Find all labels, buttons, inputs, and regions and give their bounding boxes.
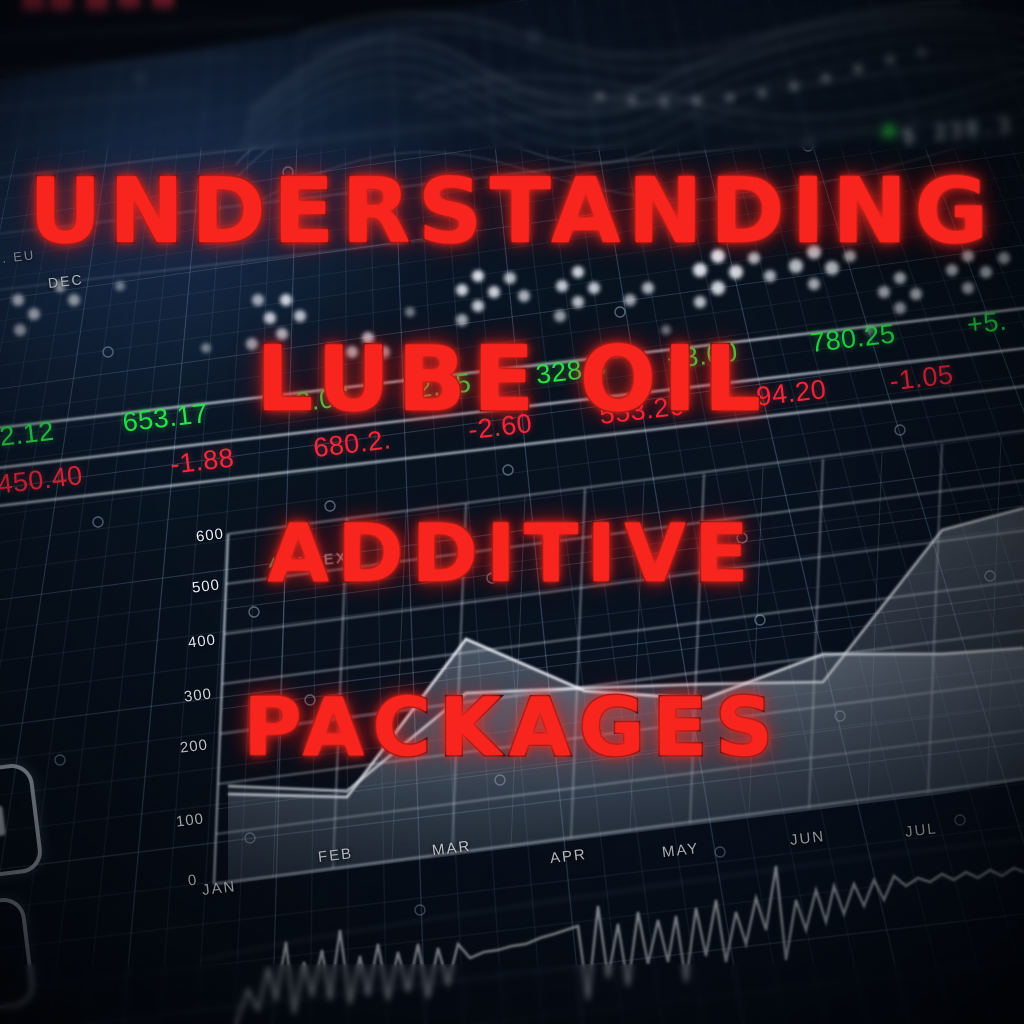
headline-line-2: Lube Oil xyxy=(0,337,1024,423)
headline-line-3: Additive xyxy=(0,516,1024,593)
poster-canvas: $ 238.3 . EU DEC 3 +2.12 653.17 +8.06 2.… xyxy=(0,0,1024,1024)
y-tick-100: 100 xyxy=(175,810,205,830)
y-tick-400: 400 xyxy=(187,631,217,651)
headline-line-4: Packages xyxy=(0,690,1024,767)
y-tick-0: 0 xyxy=(187,872,198,890)
currency-symbol: $ xyxy=(901,122,919,148)
up-triangle-icon xyxy=(879,121,898,137)
headline-line-1: Understanding xyxy=(0,169,1024,255)
